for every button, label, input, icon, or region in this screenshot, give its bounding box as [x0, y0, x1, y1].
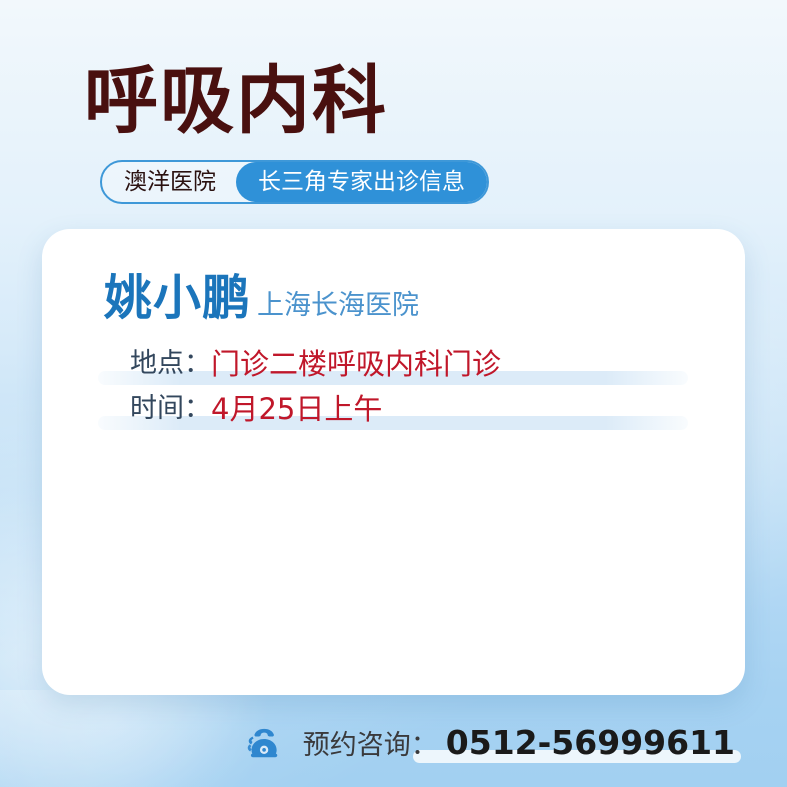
telephone-icon — [243, 724, 287, 764]
info-row-location: 地点： 门诊二楼呼吸内科门诊 — [98, 345, 688, 383]
appointment-phone-number[interactable]: 0512-56999611 — [446, 726, 735, 760]
page-title: 呼吸内科 — [84, 58, 388, 144]
footer: 预约咨询： 0512-56999611 — [0, 714, 787, 774]
appointment-label: 预约咨询： — [303, 729, 438, 763]
badge-hospital-label: 澳洋医院 — [102, 162, 236, 202]
doctor-schedule-card: 姚小鹏 上海长海医院 地点： 门诊二楼呼吸内科门诊 时间： 4月25日上午 — [42, 229, 745, 695]
badge: 澳洋医院 长三角专家出诊信息 — [100, 160, 489, 204]
footer-contact: 预约咨询： 0512-56999611 — [303, 726, 735, 763]
time-value: 4月25日上午 — [211, 392, 382, 426]
doctor-name: 姚小鹏 — [104, 271, 251, 325]
doctor-heading: 姚小鹏 上海长海医院 — [104, 271, 419, 325]
info-row-time: 时间： 4月25日上午 — [98, 390, 688, 428]
doctor-hospital: 上海长海医院 — [257, 289, 419, 323]
location-value: 门诊二楼呼吸内科门诊 — [211, 347, 501, 381]
poster-canvas: 呼吸内科 澳洋医院 长三角专家出诊信息 姚小鹏 上海长海医院 地点： 门诊二楼呼… — [0, 0, 787, 787]
time-label: 时间： — [130, 392, 211, 426]
badge-subtitle-label: 长三角专家出诊信息 — [236, 162, 487, 202]
location-label: 地点： — [130, 347, 211, 381]
